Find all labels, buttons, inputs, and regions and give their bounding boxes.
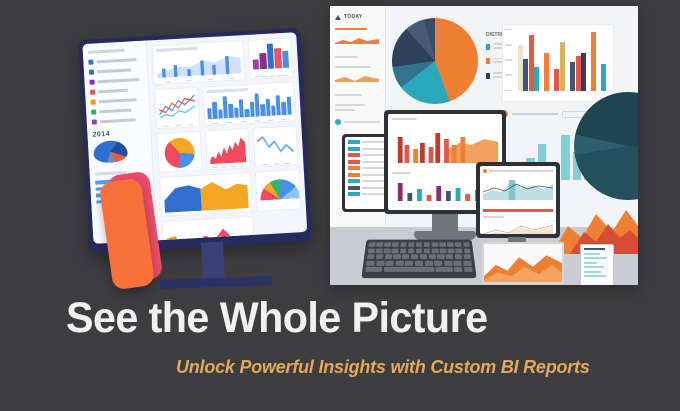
sparkline-chart bbox=[335, 36, 379, 44]
photo-note-row bbox=[500, 110, 588, 118]
laptop-area-chart bbox=[484, 244, 562, 282]
legend-swatch-icon bbox=[91, 99, 96, 104]
purple-bar-card bbox=[248, 37, 294, 79]
stacked-area-card bbox=[159, 172, 253, 217]
card-title-placeholder bbox=[392, 172, 411, 174]
area-chart bbox=[483, 221, 553, 235]
status-dot-icon bbox=[483, 169, 487, 173]
legend-item bbox=[90, 87, 143, 95]
legend-swatch-icon bbox=[88, 60, 93, 65]
sidebar-kpi-value: 2014 bbox=[92, 129, 145, 139]
photo-sidebar-section bbox=[335, 104, 380, 111]
bar-group bbox=[554, 30, 565, 91]
bi-dashboard-monitor: 2014 bbox=[78, 30, 318, 285]
sparkline-chart bbox=[335, 74, 379, 82]
secondary-monitor-screen bbox=[480, 166, 556, 234]
photo-sidebar-title: TODAY bbox=[344, 14, 362, 20]
photo-sidebar-footer bbox=[335, 119, 380, 125]
legend-swatch-icon bbox=[486, 58, 490, 64]
grouped-bar-chart bbox=[502, 24, 614, 102]
legend-swatch-icon bbox=[92, 119, 97, 124]
keyboard-row[interactable] bbox=[368, 248, 471, 253]
legend-label-placeholder bbox=[99, 98, 137, 103]
photo-sidebar-header: TODAY bbox=[335, 14, 380, 20]
triangle-icon bbox=[335, 15, 341, 20]
x-axis-tick-labels bbox=[211, 165, 247, 169]
keyboard-row[interactable] bbox=[367, 254, 471, 259]
bar-group bbox=[591, 30, 596, 91]
bar-plot-area bbox=[515, 30, 609, 91]
area-line-chart bbox=[483, 176, 553, 200]
x-axis-tick-labels bbox=[254, 74, 290, 78]
gauge-card bbox=[255, 169, 301, 211]
bar-group bbox=[570, 30, 586, 91]
legend-item bbox=[91, 97, 144, 105]
secondary-monitor-device bbox=[476, 162, 560, 238]
bi-devices-photo: TODAY bbox=[330, 6, 638, 285]
bar-chart bbox=[207, 90, 292, 119]
card-title-placeholder bbox=[483, 216, 504, 218]
legend-swatch-icon bbox=[90, 90, 95, 95]
area-bar-card bbox=[152, 40, 246, 85]
sidebar-title-placeholder bbox=[88, 49, 125, 54]
keyboard-row[interactable] bbox=[368, 242, 469, 247]
header-title-placeholder bbox=[489, 170, 553, 172]
status-dot-icon bbox=[335, 119, 341, 125]
photo-sidebar-section bbox=[335, 28, 380, 58]
line-chart bbox=[158, 91, 195, 121]
x-axis-tick-labels bbox=[160, 123, 196, 127]
x-axis-tick-labels bbox=[158, 77, 242, 83]
legend-label-placeholder bbox=[96, 58, 136, 63]
page-subtitle: Unlock Powerful Insights with Custom BI … bbox=[176, 356, 590, 378]
y-axis-tick-labels bbox=[505, 29, 512, 91]
column-dense-card bbox=[202, 81, 296, 126]
pie-chart bbox=[164, 137, 196, 169]
bar-group bbox=[518, 30, 540, 91]
donut-card bbox=[157, 131, 203, 173]
legend-label-placeholder bbox=[100, 119, 136, 124]
bar-group bbox=[544, 30, 549, 91]
legend-item bbox=[92, 117, 145, 125]
x-axis-tick-labels bbox=[258, 162, 294, 166]
bar-chart bbox=[252, 42, 289, 70]
distribution-pie-chart bbox=[392, 18, 478, 104]
hero-banner: 2014 bbox=[0, 0, 680, 411]
bar-group bbox=[601, 30, 606, 91]
note-text-placeholder bbox=[512, 113, 558, 115]
area-chart bbox=[163, 176, 249, 213]
legend-swatch-icon bbox=[486, 44, 490, 50]
screen-header bbox=[483, 169, 553, 173]
legend-swatch-icon bbox=[91, 109, 96, 114]
legend-label-placeholder bbox=[98, 78, 140, 83]
smartphone-device bbox=[580, 244, 614, 285]
legend-swatch-icon bbox=[89, 80, 94, 85]
sidebar-mini-pie-chart bbox=[93, 140, 128, 164]
area-chart bbox=[209, 132, 247, 164]
legend-swatch-icon bbox=[486, 73, 490, 79]
legend-swatch-icon bbox=[89, 70, 94, 75]
monitor-stand-neck bbox=[201, 241, 225, 282]
legend-label-placeholder bbox=[99, 109, 131, 113]
multi-line-card bbox=[154, 87, 200, 129]
divider bbox=[483, 209, 553, 212]
orange-area-card bbox=[162, 216, 256, 244]
keyboard-row[interactable] bbox=[365, 267, 473, 272]
x-axis-tick-labels bbox=[208, 118, 292, 124]
line-chart bbox=[257, 130, 294, 160]
card-title-placeholder bbox=[392, 118, 417, 120]
page-title: See the Whole Picture bbox=[66, 297, 487, 340]
bar-area-chart bbox=[392, 123, 498, 163]
legend-label-placeholder bbox=[97, 69, 131, 73]
dark-pie-chart bbox=[574, 92, 638, 200]
keyboard-row[interactable] bbox=[366, 261, 472, 266]
red-area-card bbox=[205, 128, 251, 170]
laptop-device bbox=[482, 242, 564, 284]
legend-item bbox=[89, 77, 142, 85]
dashboard-card-grid bbox=[147, 32, 308, 244]
legend-item bbox=[88, 57, 141, 65]
area-chart bbox=[156, 49, 241, 78]
legend-item bbox=[91, 107, 144, 115]
blue-line-card bbox=[252, 125, 298, 167]
gauge-chart bbox=[259, 178, 300, 200]
legend-item bbox=[89, 67, 142, 75]
photo-sidebar-section bbox=[335, 66, 380, 96]
keyboard-device[interactable] bbox=[361, 240, 476, 279]
area-chart bbox=[166, 220, 252, 244]
legend-label-placeholder bbox=[98, 89, 128, 93]
